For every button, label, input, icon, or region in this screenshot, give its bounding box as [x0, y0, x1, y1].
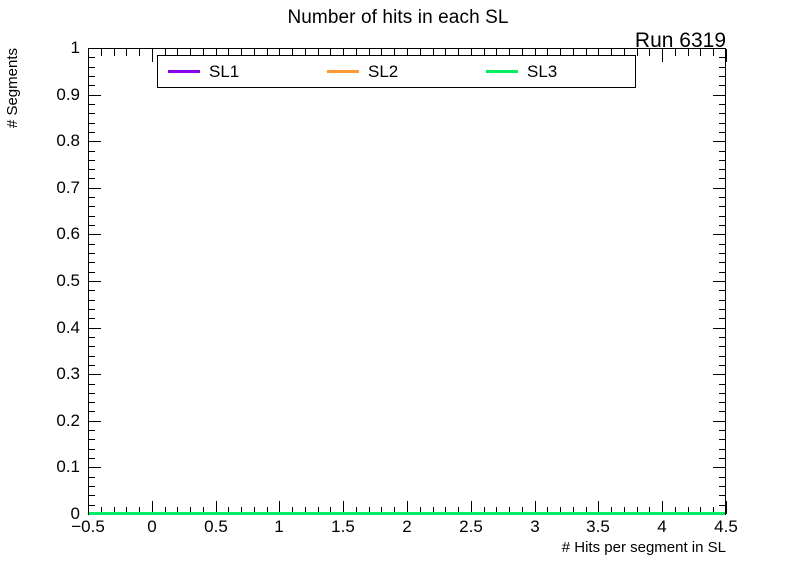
y-axis-major-tick — [88, 421, 101, 422]
legend-entry-sl1[interactable]: SL1 — [158, 62, 317, 82]
y-axis-minor-tick — [88, 495, 95, 496]
y-axis-major-tick — [88, 328, 101, 329]
x-axis-major-tick — [152, 49, 153, 62]
y-axis-minor-tick — [719, 178, 726, 179]
y-axis-minor-tick — [719, 290, 726, 291]
y-axis-major-tick — [713, 188, 726, 189]
y-axis-minor-tick — [88, 309, 95, 310]
y-axis-title: # Segments — [4, 48, 21, 128]
x-axis-minor-tick — [114, 49, 115, 56]
y-axis-minor-tick — [88, 365, 95, 366]
x-axis-tick-label: 0.5 — [204, 517, 228, 537]
x-axis-minor-tick — [637, 49, 638, 56]
y-axis-minor-tick — [719, 486, 726, 487]
x-axis-tick-label: −0.5 — [71, 517, 105, 537]
y-axis-minor-tick — [719, 337, 726, 338]
y-axis-minor-tick — [88, 486, 95, 487]
y-axis-major-tick — [713, 374, 726, 375]
x-axis-minor-tick — [713, 49, 714, 56]
y-axis-minor-tick — [719, 197, 726, 198]
y-axis-minor-tick — [88, 477, 95, 478]
y-axis-minor-tick — [88, 178, 95, 179]
y-axis-minor-tick — [88, 449, 95, 450]
x-axis-title: # Hits per segment in SL — [562, 539, 726, 556]
y-axis-minor-tick — [88, 160, 95, 161]
x-axis-tick-label: 2.5 — [459, 517, 483, 537]
legend-entry-sl3[interactable]: SL3 — [476, 62, 635, 82]
series-line-sl3 — [89, 512, 725, 515]
y-axis-minor-tick — [719, 85, 726, 86]
y-axis-minor-tick — [88, 393, 95, 394]
y-axis-minor-tick — [719, 309, 726, 310]
y-axis-tick-label: 0.3 — [56, 364, 80, 384]
y-axis-major-tick — [88, 141, 101, 142]
legend-entry-label: SL1 — [209, 62, 239, 82]
y-axis-minor-tick — [88, 169, 95, 170]
y-axis-major-tick — [713, 467, 726, 468]
y-axis-minor-tick — [88, 57, 95, 58]
y-axis-minor-tick — [88, 300, 95, 301]
x-axis-tick-label: 3 — [530, 517, 539, 537]
y-axis-tick-label: 0.9 — [56, 85, 80, 105]
x-axis-tick-label: 4 — [657, 517, 666, 537]
y-axis-major-tick — [88, 234, 101, 235]
y-axis-minor-tick — [719, 430, 726, 431]
y-axis-major-tick — [713, 48, 726, 49]
y-axis-major-tick — [88, 95, 101, 96]
legend-entry-label: SL3 — [527, 62, 557, 82]
y-axis-major-tick — [713, 421, 726, 422]
x-axis-minor-tick — [688, 49, 689, 56]
x-axis-tick-label: 1.5 — [331, 517, 355, 537]
plot-frame — [88, 48, 726, 514]
y-axis-minor-tick — [719, 169, 726, 170]
y-axis-minor-tick — [719, 244, 726, 245]
x-axis-minor-tick — [649, 49, 650, 56]
y-axis-minor-tick — [88, 356, 95, 357]
y-axis-minor-tick — [719, 318, 726, 319]
x-axis-tick-label: 1 — [274, 517, 283, 537]
y-axis-minor-tick — [719, 104, 726, 105]
legend: SL1SL2SL3 — [157, 55, 636, 88]
y-axis-minor-tick — [719, 113, 726, 114]
y-axis-minor-tick — [719, 300, 726, 301]
y-axis-minor-tick — [88, 439, 95, 440]
y-axis-minor-tick — [719, 216, 726, 217]
y-axis-minor-tick — [719, 132, 726, 133]
x-axis-minor-tick — [675, 49, 676, 56]
legend-line-swatch — [327, 70, 359, 73]
y-axis-minor-tick — [719, 123, 726, 124]
y-axis-major-tick — [88, 48, 101, 49]
y-axis-minor-tick — [719, 505, 726, 506]
page-title: Number of hits in each SL — [0, 7, 796, 29]
y-axis-minor-tick — [88, 272, 95, 273]
y-axis-minor-tick — [719, 57, 726, 58]
x-axis-tick-label: 2 — [402, 517, 411, 537]
y-axis-major-tick — [88, 281, 101, 282]
x-axis-minor-tick — [700, 49, 701, 56]
plot-canvas: Number of hits in each SL Run 6319 00.10… — [0, 0, 796, 572]
y-axis-minor-tick — [719, 411, 726, 412]
y-axis-minor-tick — [719, 253, 726, 254]
y-axis-major-tick — [713, 281, 726, 282]
y-axis-minor-tick — [719, 365, 726, 366]
y-axis-minor-tick — [88, 253, 95, 254]
y-axis-minor-tick — [719, 458, 726, 459]
y-axis-minor-tick — [719, 477, 726, 478]
y-axis-minor-tick — [88, 337, 95, 338]
y-axis-minor-tick — [719, 402, 726, 403]
y-axis-major-tick — [88, 374, 101, 375]
y-axis-major-tick — [713, 141, 726, 142]
y-axis-minor-tick — [719, 262, 726, 263]
y-axis-minor-tick — [88, 384, 95, 385]
y-axis-minor-tick — [88, 123, 95, 124]
x-axis-tick-label: 3.5 — [586, 517, 610, 537]
y-axis-major-tick — [713, 234, 726, 235]
y-axis-tick-label: 0.4 — [56, 318, 80, 338]
x-axis-minor-tick — [101, 49, 102, 56]
y-axis-major-tick — [88, 188, 101, 189]
y-axis-minor-tick — [719, 393, 726, 394]
legend-line-swatch — [486, 70, 518, 73]
y-axis-minor-tick — [719, 495, 726, 496]
legend-entry-sl2[interactable]: SL2 — [317, 62, 476, 82]
y-axis-minor-tick — [719, 160, 726, 161]
y-axis-minor-tick — [719, 67, 726, 68]
y-axis-minor-tick — [719, 346, 726, 347]
y-axis-tick-label: 0.1 — [56, 457, 80, 477]
y-axis-minor-tick — [719, 151, 726, 152]
y-axis-tick-label: 0.7 — [56, 178, 80, 198]
legend-entry-label: SL2 — [368, 62, 398, 82]
y-axis-tick-label: 0.5 — [56, 271, 80, 291]
y-axis-minor-tick — [88, 458, 95, 459]
y-axis-major-tick — [88, 467, 101, 468]
y-axis-minor-tick — [88, 505, 95, 506]
y-axis-minor-tick — [88, 411, 95, 412]
y-axis-minor-tick — [88, 76, 95, 77]
x-axis-minor-tick — [139, 49, 140, 56]
y-axis-minor-tick — [88, 244, 95, 245]
y-axis-major-tick — [713, 95, 726, 96]
x-axis-tick-label: 0 — [147, 517, 156, 537]
y-axis-minor-tick — [88, 346, 95, 347]
y-axis-minor-tick — [719, 76, 726, 77]
y-axis-minor-tick — [88, 402, 95, 403]
y-axis-minor-tick — [88, 290, 95, 291]
y-axis-minor-tick — [88, 430, 95, 431]
y-axis-minor-tick — [88, 216, 95, 217]
y-axis-minor-tick — [88, 67, 95, 68]
y-axis-minor-tick — [88, 206, 95, 207]
y-axis-minor-tick — [719, 272, 726, 273]
y-axis-minor-tick — [719, 384, 726, 385]
y-axis-tick-label: 0.8 — [56, 131, 80, 151]
y-axis-tick-label: 0.2 — [56, 411, 80, 431]
x-axis-tick-label: 4.5 — [714, 517, 738, 537]
x-axis-major-tick — [88, 49, 89, 62]
y-axis-minor-tick — [719, 449, 726, 450]
y-axis-minor-tick — [88, 113, 95, 114]
x-axis-major-tick — [662, 49, 663, 62]
y-axis-minor-tick — [88, 197, 95, 198]
y-axis-tick-label: 1 — [71, 38, 80, 58]
y-axis-minor-tick — [88, 318, 95, 319]
y-axis-minor-tick — [719, 439, 726, 440]
x-axis-major-tick — [726, 501, 727, 514]
y-axis-minor-tick — [88, 151, 95, 152]
y-axis-minor-tick — [88, 262, 95, 263]
y-axis-minor-tick — [719, 356, 726, 357]
y-axis-tick-label: 0.6 — [56, 224, 80, 244]
y-axis-minor-tick — [88, 85, 95, 86]
x-axis-major-tick — [726, 49, 727, 62]
y-axis-minor-tick — [88, 132, 95, 133]
y-axis-minor-tick — [88, 225, 95, 226]
y-axis-minor-tick — [719, 206, 726, 207]
legend-line-swatch — [168, 70, 200, 73]
y-axis-major-tick — [713, 328, 726, 329]
x-axis-minor-tick — [126, 49, 127, 56]
y-axis-minor-tick — [88, 104, 95, 105]
y-axis-minor-tick — [719, 225, 726, 226]
